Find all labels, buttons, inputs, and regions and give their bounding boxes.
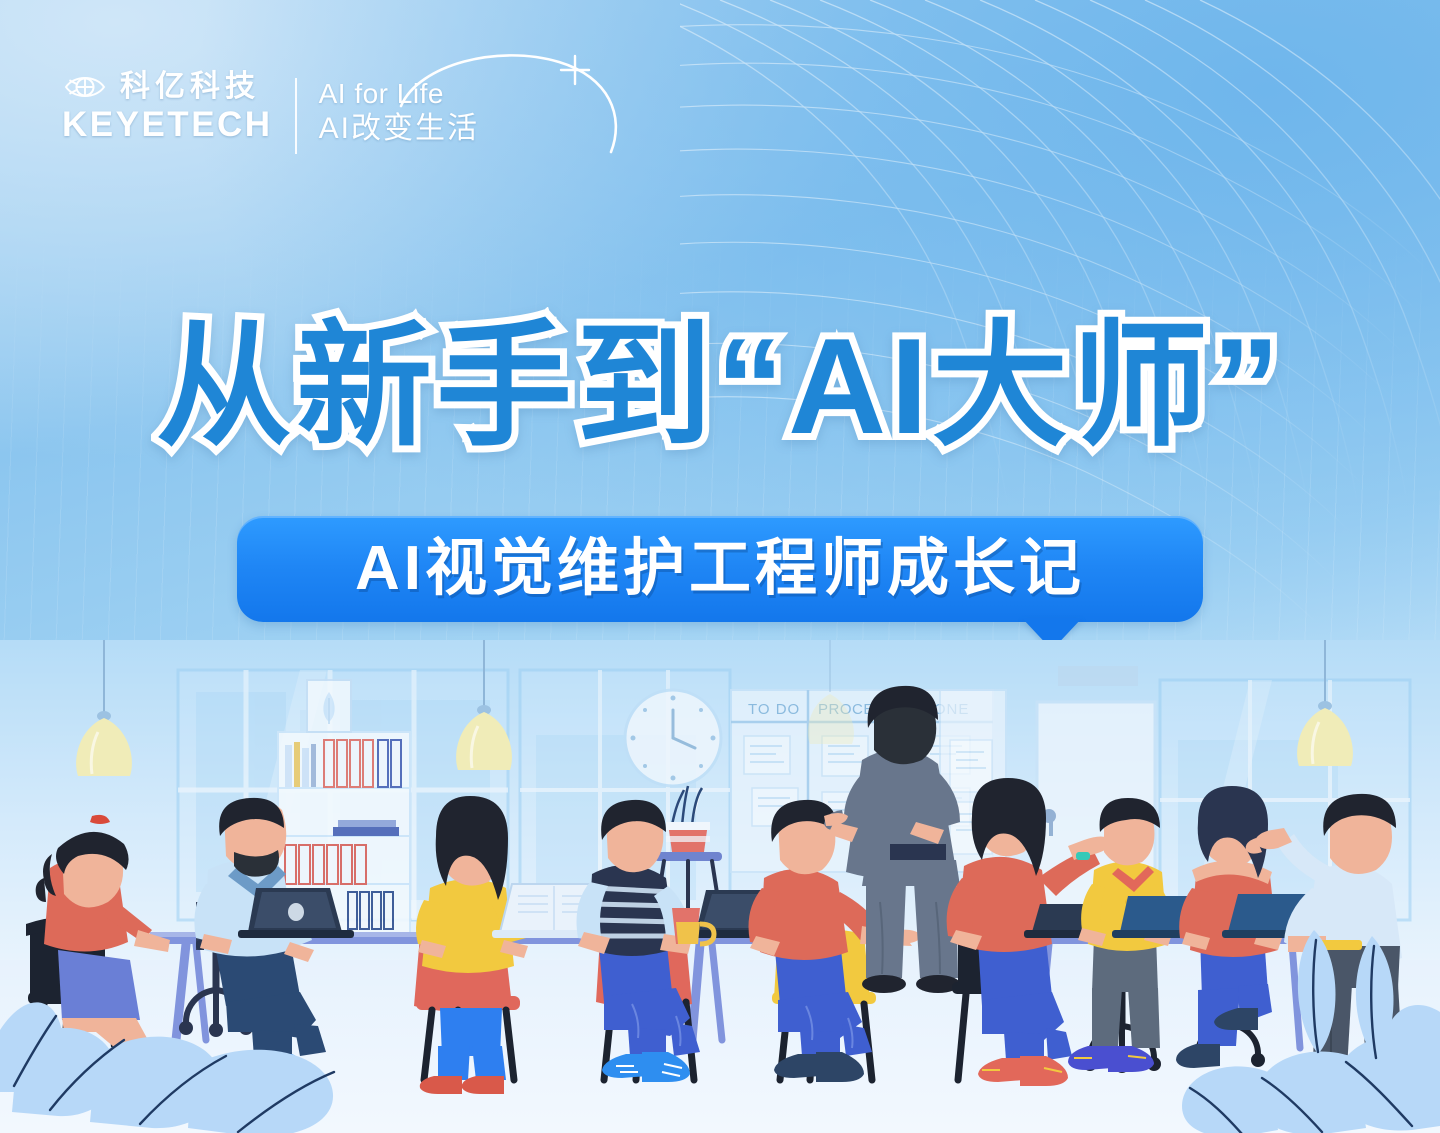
office-illustration: TO DO PROCESSING DONE <box>0 640 1440 1133</box>
brand-tagline-group: AI for Life AI改变生活 <box>319 72 479 147</box>
framed-picture <box>307 680 351 732</box>
hero-title: 从新手到“AI大师” <box>156 318 1284 454</box>
hero-title-container: 从新手到“AI大师” <box>0 318 1440 454</box>
hero-subtitle: AI视觉维护工程师成长记 <box>355 538 1085 600</box>
hero-subtitle-banner: AI视觉维护工程师成长记 <box>237 516 1203 622</box>
poster: 科亿科技 KEYETECH AI for Life AI改变生活 从新手到“AI… <box>0 0 1440 1133</box>
logo-divider <box>295 78 297 154</box>
eye-icon <box>62 72 108 102</box>
brand-name-cn: 科亿科技 <box>120 72 260 102</box>
books-stack <box>333 820 399 836</box>
wall-clock <box>625 690 721 786</box>
brand-name-en: KEYETECH <box>62 107 273 144</box>
brand-tagline-cn: AI改变生活 <box>319 111 479 146</box>
office-illustration-svg: TO DO PROCESSING DONE <box>0 640 1440 1133</box>
brand-tagline-en: AI for Life <box>319 78 479 109</box>
brand-logo: 科亿科技 KEYETECH AI for Life AI改变生活 <box>62 72 479 154</box>
sneakers-purple-1 <box>1068 1046 1154 1072</box>
kanban-column-todo: TO DO <box>748 701 800 718</box>
brand-logo-text: 科亿科技 KEYETECH <box>62 72 273 144</box>
